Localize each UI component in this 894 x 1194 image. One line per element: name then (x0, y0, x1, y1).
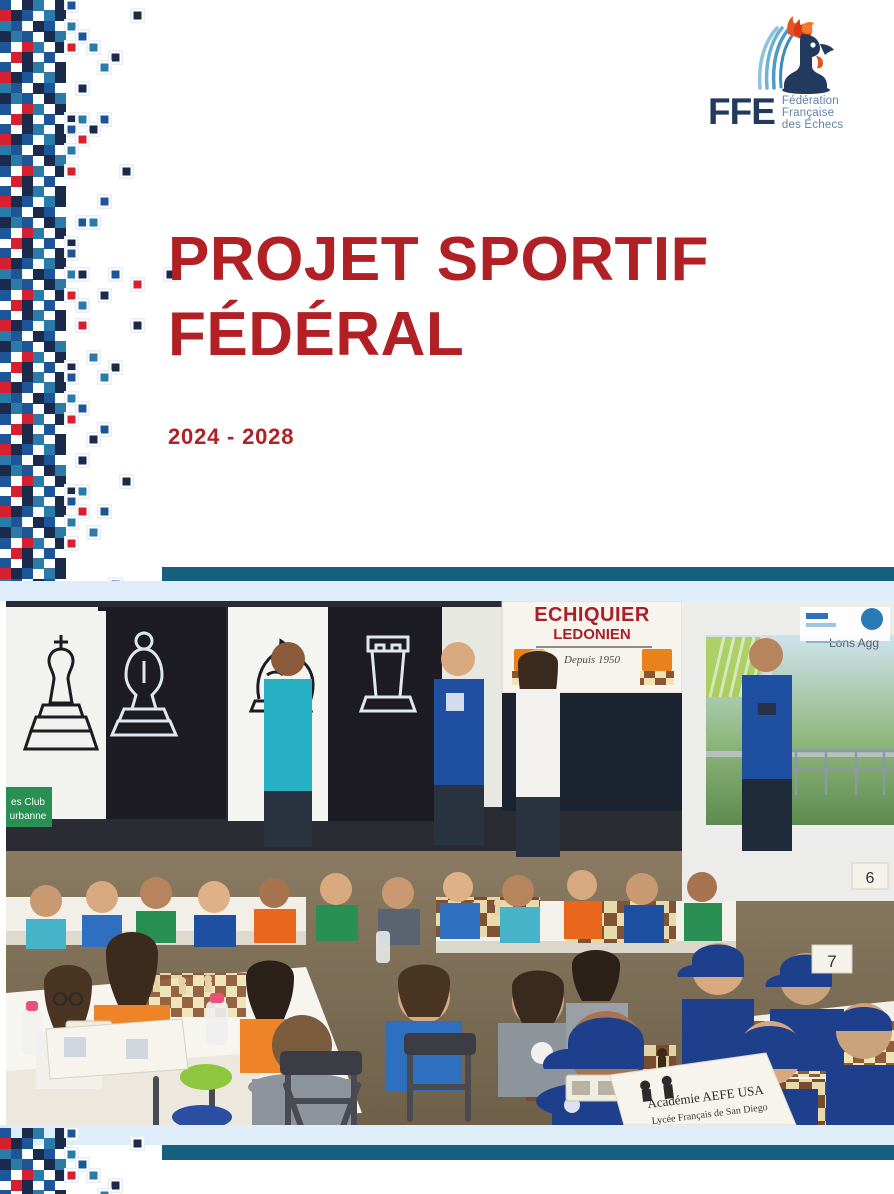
pattern-square (33, 186, 44, 197)
pattern-square (33, 0, 44, 11)
pattern-square (55, 558, 66, 569)
pattern-square (22, 42, 33, 53)
pattern-square (11, 393, 22, 404)
pattern-square (55, 465, 66, 476)
pattern-square (11, 217, 22, 228)
pattern-square (11, 341, 22, 352)
ffe-federation-name: Fédération Française des Échecs (782, 95, 843, 132)
pattern-square (0, 1149, 11, 1160)
pattern-square (110, 52, 121, 63)
pattern-square (55, 62, 66, 73)
pattern-square (22, 403, 33, 414)
pattern-square (11, 114, 22, 125)
pattern-square (0, 72, 11, 83)
pattern-square (55, 0, 66, 11)
svg-text:7: 7 (827, 952, 836, 971)
pattern-square (11, 279, 22, 290)
pattern-square (132, 10, 143, 21)
pattern-square (0, 558, 11, 569)
pattern-square (44, 196, 55, 207)
pattern-square (44, 331, 55, 342)
pattern-square (44, 114, 55, 125)
pattern-square (33, 393, 44, 404)
pattern-square (44, 517, 55, 528)
pattern-square (0, 93, 11, 104)
pattern-square (55, 403, 66, 414)
pattern-square (88, 124, 99, 135)
pattern-square (11, 1138, 22, 1149)
pattern-square (0, 1190, 11, 1194)
pattern-square (22, 93, 33, 104)
pattern-square (55, 93, 66, 104)
pattern-square (66, 1149, 77, 1160)
pattern-square (22, 444, 33, 455)
pattern-square (99, 290, 110, 301)
pattern-square (55, 352, 66, 363)
pattern-square (44, 176, 55, 187)
pattern-square (55, 538, 66, 549)
pattern-square (11, 134, 22, 145)
pattern-square (77, 217, 88, 228)
pattern-square (55, 1138, 66, 1149)
svg-text:6: 6 (866, 870, 875, 887)
accent-bar-top (162, 567, 894, 581)
pattern-square (0, 1128, 11, 1139)
pattern-square (11, 83, 22, 94)
svg-text:urbanne: urbanne (10, 811, 47, 822)
pattern-square (11, 196, 22, 207)
pattern-square (66, 290, 77, 301)
pattern-square (55, 1128, 66, 1139)
pattern-square (0, 506, 11, 517)
pattern-square (33, 145, 44, 156)
pattern-square (22, 290, 33, 301)
chess-pixel-pattern-bottom (0, 1128, 182, 1194)
page-title: PROJET SPORTIF FÉDÉRAL (168, 222, 828, 372)
pattern-square (55, 1159, 66, 1170)
pattern-square (33, 124, 44, 135)
pattern-square (66, 124, 77, 135)
pattern-square (44, 93, 55, 104)
pattern-square (44, 362, 55, 373)
pattern-square (22, 372, 33, 383)
pattern-square (44, 382, 55, 393)
pattern-square (99, 424, 110, 435)
pattern-square (33, 414, 44, 425)
pattern-square (11, 320, 22, 331)
pattern-square (0, 21, 11, 32)
pattern-square (0, 403, 11, 414)
ffe-letters: FFE (708, 94, 775, 130)
pattern-square (33, 558, 44, 569)
pattern-square (11, 517, 22, 528)
pattern-square (55, 42, 66, 53)
pattern-square (77, 134, 88, 145)
pattern-square (11, 1149, 22, 1160)
pattern-square (33, 83, 44, 94)
pattern-square (11, 300, 22, 311)
pattern-square (55, 258, 66, 269)
pattern-square (22, 538, 33, 549)
ffe-name-line-2: Française (782, 107, 843, 119)
pattern-square (11, 72, 22, 83)
pattern-square (77, 114, 88, 125)
pattern-square (22, 527, 33, 538)
pattern-square (22, 382, 33, 393)
pattern-square (22, 104, 33, 115)
pattern-square (11, 21, 22, 32)
pattern-square (22, 62, 33, 73)
pattern-square (55, 310, 66, 321)
chess-pixel-pattern-top (0, 0, 182, 592)
pattern-square (22, 558, 33, 569)
pattern-square (55, 166, 66, 177)
pattern-square (44, 548, 55, 559)
pattern-square (11, 362, 22, 373)
pattern-square (88, 527, 99, 538)
pattern-square (11, 269, 22, 280)
pattern-square (33, 42, 44, 53)
pattern-square (77, 300, 88, 311)
pattern-square (22, 258, 33, 269)
pattern-square (22, 155, 33, 166)
pattern-square (55, 155, 66, 166)
pattern-square (11, 455, 22, 466)
pattern-square (22, 1190, 33, 1194)
pattern-square (44, 1159, 55, 1170)
pattern-square (11, 155, 22, 166)
pattern-square (0, 455, 11, 466)
pattern-square (88, 434, 99, 445)
pattern-square (88, 217, 99, 228)
pattern-square (55, 248, 66, 259)
pattern-square (99, 506, 110, 517)
pattern-square (55, 496, 66, 507)
pattern-square (55, 476, 66, 487)
pattern-square (66, 0, 77, 11)
pattern-square (11, 52, 22, 63)
pattern-square (99, 372, 110, 383)
svg-text:LEDONIEN: LEDONIEN (553, 626, 631, 643)
ffe-wordmark: FFE Fédération Française des Échecs (708, 94, 878, 134)
pattern-square (55, 279, 66, 290)
pattern-square (0, 290, 11, 301)
ffe-rooster-chess-piece-logo-icon (744, 14, 836, 94)
pattern-square (11, 331, 22, 342)
pattern-square (33, 455, 44, 466)
pattern-square (22, 1128, 33, 1139)
pattern-square (11, 548, 22, 559)
pattern-square (44, 145, 55, 156)
pattern-square (44, 320, 55, 331)
pattern-square (33, 538, 44, 549)
pattern-square (55, 568, 66, 579)
pattern-square (11, 258, 22, 269)
pattern-square (99, 1190, 110, 1194)
pattern-square (22, 1170, 33, 1181)
pattern-square (11, 568, 22, 579)
pattern-square (0, 166, 11, 177)
pattern-square (55, 1190, 66, 1194)
pattern-square (55, 372, 66, 383)
ffe-logo: FFE Fédération Française des Échecs (708, 14, 878, 134)
pattern-square (55, 341, 66, 352)
pattern-square (0, 538, 11, 549)
pattern-square (77, 83, 88, 94)
pattern-square (0, 145, 11, 156)
pattern-square (44, 568, 55, 579)
pattern-square (121, 476, 132, 487)
pattern-square (88, 1170, 99, 1181)
pattern-square (44, 527, 55, 538)
pattern-square (22, 506, 33, 517)
light-strip-top (0, 581, 894, 601)
pattern-square (44, 31, 55, 42)
pattern-square (55, 134, 66, 145)
pattern-square (66, 248, 77, 259)
pattern-square (44, 1138, 55, 1149)
pattern-square (11, 145, 22, 156)
pattern-square (11, 486, 22, 497)
pattern-square (11, 403, 22, 414)
pattern-square (44, 1180, 55, 1191)
pattern-square (44, 486, 55, 497)
pattern-square (0, 320, 11, 331)
pattern-square (44, 465, 55, 476)
pattern-square (0, 279, 11, 290)
pattern-square (66, 42, 77, 53)
pattern-square (0, 434, 11, 445)
pattern-square (110, 269, 121, 280)
pattern-square (0, 568, 11, 579)
pattern-square (55, 186, 66, 197)
pattern-square (22, 0, 33, 11)
pattern-square (77, 1159, 88, 1170)
pattern-square (55, 72, 66, 83)
pattern-square (77, 486, 88, 497)
pattern-square (22, 414, 33, 425)
pattern-square (11, 527, 22, 538)
pattern-square (0, 196, 11, 207)
pattern-square (132, 1138, 143, 1149)
pattern-square (44, 217, 55, 228)
pattern-square (0, 527, 11, 538)
pattern-square (0, 352, 11, 363)
pattern-square (33, 290, 44, 301)
pattern-square (0, 517, 11, 528)
ffe-name-line-1: Fédération (782, 95, 843, 107)
pattern-square (44, 455, 55, 466)
pattern-square (22, 186, 33, 197)
pattern-square (77, 403, 88, 414)
pattern-square (77, 31, 88, 42)
pattern-square (11, 382, 22, 393)
pattern-square (22, 124, 33, 135)
pattern-square (33, 228, 44, 239)
svg-text:ECHIQUIER: ECHIQUIER (534, 604, 650, 626)
pattern-square (22, 10, 33, 21)
pattern-square (0, 62, 11, 73)
pattern-square (66, 1170, 77, 1181)
pattern-square (22, 217, 33, 228)
pattern-square (55, 382, 66, 393)
page-title-line-2: FÉDÉRAL (168, 297, 828, 372)
pattern-square (22, 341, 33, 352)
pattern-square (0, 444, 11, 455)
pattern-square (11, 465, 22, 476)
pattern-square (0, 155, 11, 166)
pattern-square (0, 310, 11, 321)
pattern-square (33, 352, 44, 363)
pattern-square (121, 166, 132, 177)
pattern-square (0, 228, 11, 239)
pattern-square (33, 207, 44, 218)
pattern-square (66, 372, 77, 383)
pattern-square (33, 331, 44, 342)
pattern-square (44, 238, 55, 249)
pattern-square (33, 372, 44, 383)
pattern-square (66, 414, 77, 425)
page-subtitle-years: 2024 - 2028 (168, 424, 294, 450)
accent-bar-bottom (162, 1145, 894, 1160)
pattern-square (99, 114, 110, 125)
pattern-square (77, 269, 88, 280)
pattern-square (22, 434, 33, 445)
pattern-square (33, 1149, 44, 1160)
pattern-square (0, 248, 11, 259)
pattern-square (66, 269, 77, 280)
pattern-square (0, 186, 11, 197)
pattern-square (0, 42, 11, 53)
pattern-square (33, 166, 44, 177)
pattern-square (22, 228, 33, 239)
pattern-square (0, 269, 11, 280)
pattern-square (0, 1159, 11, 1170)
ffe-name-line-3: des Échecs (782, 119, 843, 131)
pattern-square (77, 455, 88, 466)
pattern-square (44, 403, 55, 414)
pattern-square (44, 21, 55, 32)
pattern-square (11, 10, 22, 21)
pattern-square (22, 166, 33, 177)
pattern-square (22, 352, 33, 363)
pattern-square (0, 124, 11, 135)
pattern-square (55, 31, 66, 42)
pattern-square (0, 393, 11, 404)
pattern-square (11, 424, 22, 435)
pattern-square (11, 444, 22, 455)
pattern-square (11, 176, 22, 187)
pattern-square (33, 269, 44, 280)
pattern-square (0, 31, 11, 42)
pattern-square (22, 476, 33, 487)
pattern-square (0, 134, 11, 145)
pattern-square (0, 207, 11, 218)
pattern-square (11, 31, 22, 42)
pattern-square (66, 538, 77, 549)
pattern-square (0, 217, 11, 228)
pattern-square (77, 506, 88, 517)
pattern-square (11, 93, 22, 104)
pattern-square (22, 568, 33, 579)
pattern-square (44, 300, 55, 311)
svg-text:Depuis 1950: Depuis 1950 (563, 654, 620, 666)
pattern-square (55, 506, 66, 517)
pattern-square (110, 1180, 121, 1191)
pattern-square (22, 1159, 33, 1170)
pattern-square (44, 341, 55, 352)
svg-text:es Club: es Club (11, 797, 45, 808)
pattern-square (55, 1170, 66, 1181)
pattern-square (44, 1149, 55, 1160)
pattern-square (0, 465, 11, 476)
pattern-square (44, 134, 55, 145)
pattern-square (66, 145, 77, 156)
cover-photograph-illustration: ECHIQUIER LEDONIEN Depuis 1950 (6, 601, 894, 1125)
pattern-square (66, 1128, 77, 1139)
pattern-square (33, 434, 44, 445)
pattern-square (0, 414, 11, 425)
pattern-square (33, 496, 44, 507)
pattern-square (22, 72, 33, 83)
pattern-square (22, 279, 33, 290)
pattern-square (0, 1170, 11, 1181)
pattern-square (66, 21, 77, 32)
pattern-square (44, 279, 55, 290)
pattern-square (110, 362, 121, 373)
pattern-square (0, 372, 11, 383)
pattern-square (0, 341, 11, 352)
pattern-square (44, 72, 55, 83)
pattern-square (55, 290, 66, 301)
pattern-square (55, 10, 66, 21)
pattern-square (33, 248, 44, 259)
pattern-square (55, 444, 66, 455)
pattern-square (22, 31, 33, 42)
pattern-square (0, 1138, 11, 1149)
pattern-square (33, 1128, 44, 1139)
pattern-square (33, 517, 44, 528)
pattern-square (55, 124, 66, 135)
pattern-square (0, 476, 11, 487)
pattern-square (132, 279, 143, 290)
pattern-square (44, 269, 55, 280)
pattern-square (22, 134, 33, 145)
pattern-square (11, 238, 22, 249)
pattern-square (33, 476, 44, 487)
pattern-square (55, 196, 66, 207)
pattern-square (66, 393, 77, 404)
pattern-square (44, 258, 55, 269)
pattern-square (0, 258, 11, 269)
pattern-square (11, 506, 22, 517)
pattern-square (44, 207, 55, 218)
pattern-square (33, 104, 44, 115)
pattern-square (44, 155, 55, 166)
pattern-square (22, 310, 33, 321)
pattern-square (66, 166, 77, 177)
pattern-square (55, 434, 66, 445)
pattern-square (11, 1159, 22, 1170)
document-cover-page: FFE Fédération Française des Échecs PROJ… (0, 0, 894, 1194)
pattern-square (44, 52, 55, 63)
pattern-square (33, 21, 44, 32)
pattern-square (33, 1170, 44, 1181)
page-title-line-1: PROJET SPORTIF (168, 225, 709, 294)
pattern-square (22, 248, 33, 259)
pattern-square (44, 393, 55, 404)
pattern-square (55, 414, 66, 425)
